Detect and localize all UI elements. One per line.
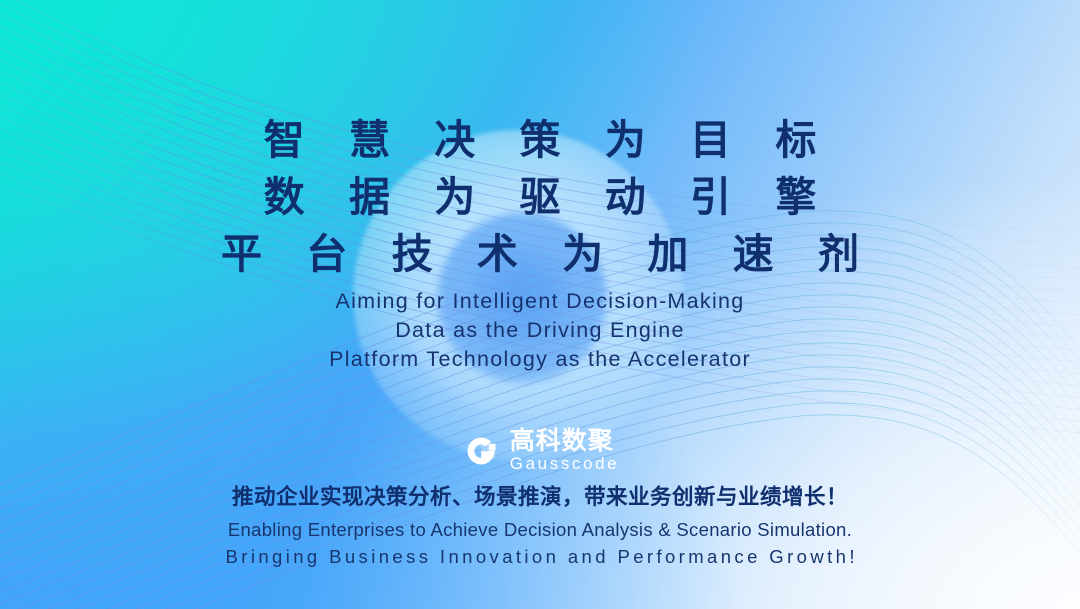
brand-name-en: Gausscode	[510, 454, 619, 474]
footer-tagline-cn: 推动企业实现决策分析、场景推演，带来业务创新与业绩增长！	[0, 483, 1080, 513]
footer-tagline-block: 推动企业实现决策分析、场景推演，带来业务创新与业绩增长！ Enabling En…	[0, 483, 1080, 570]
headline-line-2: 数 据 为 驱 动 引 擎	[0, 169, 1080, 226]
footer-tagline-en-line-1: Enabling Enterprises to Achieve Decision…	[0, 516, 1080, 543]
subtitle-line-2: Data as the Driving Engine	[0, 316, 1080, 345]
headline-block: 智 慧 决 策 为 目 标 数 据 为 驱 动 引 擎 平 台 技 术 为 加 …	[0, 112, 1080, 283]
subtitle-line-1: Aiming for Intelligent Decision-Making	[0, 287, 1080, 316]
poster-content: 智 慧 决 策 为 目 标 数 据 为 驱 动 引 擎 平 台 技 术 为 加 …	[0, 0, 1080, 609]
subtitle-line-3: Platform Technology as the Accelerator	[0, 345, 1080, 374]
subtitle-block: Aiming for Intelligent Decision-Making D…	[0, 287, 1080, 374]
promotional-poster: 智 慧 决 策 为 目 标 数 据 为 驱 动 引 擎 平 台 技 术 为 加 …	[0, 0, 1080, 609]
brand-name-cn: 高科数聚	[510, 428, 619, 454]
headline-line-1: 智 慧 决 策 为 目 标	[0, 112, 1080, 169]
brand-logo: 高科数聚 Gausscode	[0, 428, 1080, 474]
footer-tagline-en-line-2: Bringing Business Innovation and Perform…	[0, 543, 1080, 570]
gausscode-logo-mark-icon	[461, 431, 501, 471]
brand-logo-text: 高科数聚 Gausscode	[510, 428, 619, 474]
headline-line-3: 平 台 技 术 为 加 速 剂	[0, 226, 1080, 283]
